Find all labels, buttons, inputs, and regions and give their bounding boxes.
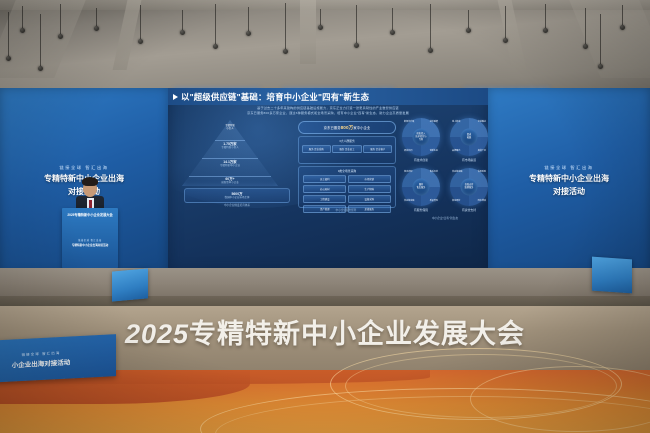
- group-b-chip: 设备采购: [348, 195, 391, 203]
- podium-sign: 2025专精特新中小企业发展大会: [62, 212, 118, 217]
- foreground-banner: 链接全球 智汇出海 小企业出海对接活动: [0, 334, 116, 384]
- donut-3-center: 履约售后服务: [417, 184, 426, 190]
- pyramid-tier-2-label: 专精特新中小企业: [182, 164, 278, 167]
- service-groups-box: 3大人群服务 服务 企业采购 服务 企业员工 服务 企业客户: [298, 136, 396, 164]
- group-a-chip: 服务 企业员工: [332, 145, 361, 153]
- donut-2: 线上商城 全域触达 品牌曝光 渠道下沉 渠道拓展 有市场渠道: [450, 118, 488, 162]
- stage-monitor-left: [112, 268, 148, 301]
- slide-header: 以"超级供应链"基础：培育中小企业"四有"新生态: [168, 88, 488, 105]
- donut-2-ring: 线上商城 全域触达 品牌曝光 渠道下沉 渠道拓展: [450, 118, 488, 156]
- donut-2-label: 有市场渠道: [462, 158, 476, 162]
- pyramid-badge-line2: 小巨人: [225, 127, 235, 130]
- slide-body-line-2: 京东已服务800多万家企业，通过3种服务模式和全场景采购，培育中小企业"四有"新…: [168, 111, 488, 116]
- donut-2-center: 渠道拓展: [467, 134, 471, 140]
- pyramid-tier-2: 14.1万家 专精特新中小企业: [182, 160, 278, 167]
- side-banner-subtitle: 链接全球 智汇出海: [59, 165, 108, 171]
- donut-1-seg-4: 创新生态: [430, 150, 438, 153]
- pyramid-tier-3: 60万+ 创新型中小企业: [182, 177, 278, 184]
- side-banner-title-right-line2: 对接活动: [553, 187, 585, 197]
- donut-4: 供应链金融 信用赊购 资金周转 降本增效 金融支持账期服务 有资金支持: [450, 168, 488, 212]
- conference-stage-photo: 链接全球 智汇出海 专精特新中小企业出海 对接活动 链接全球 智汇出海 专精特新…: [0, 0, 650, 433]
- pyramid-base-label: 我国中小企业市场主体: [224, 196, 249, 199]
- group-a-chip: 服务 企业采购: [302, 145, 331, 153]
- pyramid-caption: 中小企业梯度培育体系: [182, 203, 292, 207]
- pyramid-diagram: 专精特新 小巨人 1.75万家 专精特新小巨人 14.1万家 专精特新中小企业 …: [182, 120, 292, 210]
- slide-intro-text: 基于过去二十多年来建构的供应链基础设施能力，京东正全力打造一张更具韧性的产业数智…: [168, 106, 488, 116]
- pyramid-tier-1-label: 专精特新小巨人: [182, 146, 278, 149]
- pill-number: 800万: [341, 125, 354, 130]
- group-b-caption: 中小企业服务矩阵: [298, 208, 394, 212]
- pyramid-tier-1: 1.75万家 专精特新小巨人: [182, 142, 278, 149]
- podium-lower-sign: 链接全球 智汇出海 专精特新中小企业出海对接活动: [62, 238, 118, 247]
- slide-footer-caption: 中小企业"四有"新生态: [402, 216, 488, 220]
- donut-4-center: 金融支持账期服务: [465, 184, 474, 190]
- donut-3-seg-2: 售后无忧: [430, 171, 438, 174]
- donut-1-seg-1: 数智化升级: [404, 121, 414, 124]
- donut-2-seg-3: 品牌曝光: [452, 150, 460, 153]
- podium-sign-title: 2025专精特新中小企业发展大会: [67, 212, 112, 217]
- donut-3-seg-1: 物流仓配: [404, 171, 412, 174]
- podium-banner-title: 专精特新中小企业出海对接活动: [72, 243, 108, 247]
- speaker-hair: [82, 177, 98, 186]
- event-year: 2025: [125, 319, 189, 349]
- podium-banner-sub: 链接全球 智汇出海: [78, 238, 102, 242]
- pyramid-base-box: 5600万 我国中小企业市场主体: [184, 188, 290, 203]
- served-count-pill: 京东已服务800万家中小企业: [298, 121, 396, 134]
- donut-4-seg-4: 降本增效: [478, 200, 486, 203]
- group-a-chips: 服务 企业采购 服务 企业员工 服务 企业客户: [299, 143, 395, 155]
- donut-2-seg-1: 线上商城: [452, 121, 460, 124]
- procurement-scenarios-box: 9类全场景采购 员工福利 市场营销 办公耗材 生产物料 工程建设 设备采购 资产…: [298, 166, 396, 208]
- pyramid-tier-3-label: 创新型中小企业: [182, 181, 278, 184]
- stage-monitor-right: [592, 257, 632, 294]
- donut-1-center: 研发投入技术转化与专利: [416, 133, 427, 141]
- donut-2-seg-2: 全域触达: [478, 121, 486, 124]
- side-banner-right: 链接全球 智汇出海 专精特新中小企业出海 对接活动: [488, 88, 650, 273]
- foreground-banner-title: 小企业出海对接活动: [12, 356, 71, 369]
- side-banner-subtitle-right: 链接全球 智汇出海: [544, 165, 593, 171]
- side-banner-title-right-line1: 专精特新中小企业出海: [529, 174, 609, 184]
- donut-1-seg-3: 研发协同: [404, 150, 412, 153]
- foreground-banner-subtitle: 链接全球 智汇出海: [22, 349, 61, 356]
- pill-suffix: 家中小企业: [353, 126, 370, 130]
- podium: 2025专精特新中小企业发展大会 链接全球 智汇出海 专精特新中小企业出海对接活…: [62, 208, 118, 268]
- group-b-chip: 办公耗材: [303, 185, 346, 193]
- donut-2-seg-4: 渠道下沉: [478, 150, 486, 153]
- event-name: 专精特新中小企业发展大会: [189, 319, 525, 349]
- foreground-carpet: [0, 370, 650, 433]
- donut-3-ring: 物流仓配 售后无忧 供应链金融 质量管控 履约售后服务: [402, 168, 440, 206]
- donut-1-label: 有技术创新: [414, 158, 428, 162]
- donut-1-seg-2: 技术赋能: [430, 121, 438, 124]
- donut-4-seg-2: 信用赊购: [478, 171, 486, 174]
- donut-3-seg-4: 质量管控: [430, 200, 438, 203]
- pill-prefix: 京东已服务: [324, 126, 341, 130]
- donut-1-ring: 数智化升级 技术赋能 研发协同 创新生态 研发投入技术转化与专利: [402, 118, 440, 156]
- donut-3-seg-3: 供应链金融: [404, 200, 414, 203]
- donut-4-label: 有资金支持: [462, 208, 476, 212]
- triangle-bullet-icon: [173, 94, 178, 100]
- group-b-chip: 工程建设: [303, 195, 346, 203]
- group-a-chip: 服务 企业客户: [363, 145, 392, 153]
- donut-1: 数智化升级 技术赋能 研发协同 创新生态 研发投入技术转化与专利 有技术创新: [402, 118, 440, 162]
- donut-4-seg-3: 资金周转: [452, 200, 460, 203]
- pyramid-top-badge: 专精特新 小巨人: [225, 124, 235, 130]
- group-b-chip: 生产物料: [348, 185, 391, 193]
- presentation-slide: 以"超级供应链"基础：培育中小企业"四有"新生态 基于过去二十多年来建构的供应链…: [168, 88, 488, 273]
- donut-3: 物流仓配 售后无忧 供应链金融 质量管控 履约售后服务 有服务保障: [402, 168, 440, 212]
- donut-4-seg-1: 供应链金融: [452, 171, 462, 174]
- donut-3-label: 有服务保障: [414, 208, 428, 212]
- slide-title: 以"超级供应链"基础：培育中小企业"四有"新生态: [181, 91, 369, 103]
- donut-4-ring: 供应链金融 信用赊购 资金周转 降本增效 金融支持账期服务: [450, 168, 488, 206]
- group-b-chip: 员工福利: [303, 175, 346, 183]
- group-b-chip: 市场营销: [348, 175, 391, 183]
